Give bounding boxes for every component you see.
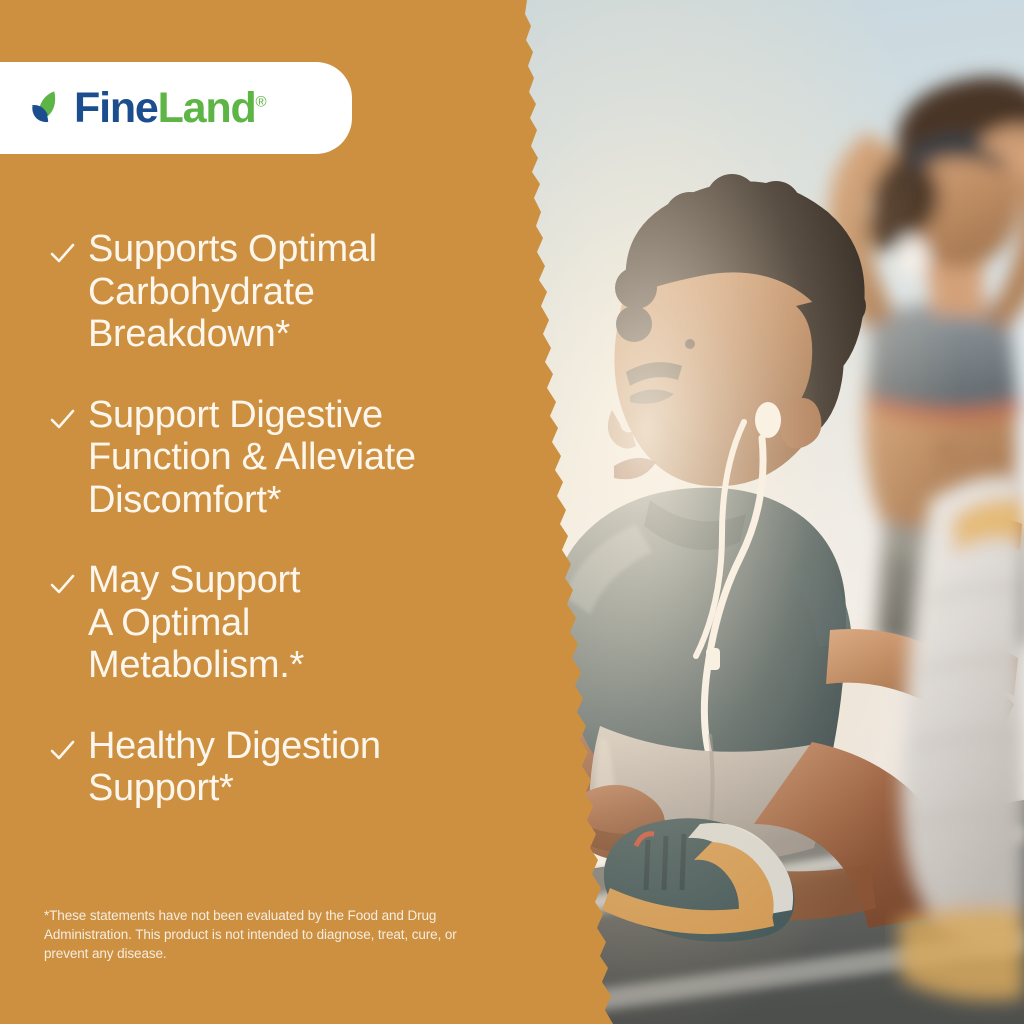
brand-name-fine: Fine — [74, 84, 158, 132]
benefit-label: Support Digestive Function & Alleviate D… — [88, 394, 416, 522]
fda-disclaimer: *These statements have not been evaluate… — [44, 906, 474, 963]
benefit-label: Healthy Digestion Support* — [88, 725, 381, 810]
registered-trademark-icon: ® — [256, 93, 267, 110]
brand-name-land: Land — [158, 84, 256, 132]
benefits-list: Supports Optimal Carbohydrate Breakdown*… — [48, 228, 518, 810]
benefit-item: Supports Optimal Carbohydrate Breakdown* — [48, 228, 518, 356]
checkmark-icon — [48, 737, 76, 765]
two-leaf-icon — [28, 87, 70, 129]
checkmark-icon — [48, 406, 76, 434]
checkmark-icon — [48, 571, 76, 599]
benefit-item: Healthy Digestion Support* — [48, 725, 518, 810]
benefit-label: Supports Optimal Carbohydrate Breakdown* — [88, 228, 377, 356]
marketing-poster: FineLand® Supports Optimal Carbohydrate … — [0, 0, 1024, 1024]
benefit-item: May Support A Optimal Metabolism.* — [48, 559, 518, 687]
benefit-label: May Support A Optimal Metabolism.* — [88, 559, 304, 687]
brand-logo-card[interactable]: FineLand® — [0, 62, 352, 154]
checkmark-icon — [48, 240, 76, 268]
benefit-item: Support Digestive Function & Alleviate D… — [48, 394, 518, 522]
brand-wordmark: FineLand® — [74, 87, 267, 130]
panel-content: FineLand® Supports Optimal Carbohydrate … — [0, 0, 1024, 1024]
